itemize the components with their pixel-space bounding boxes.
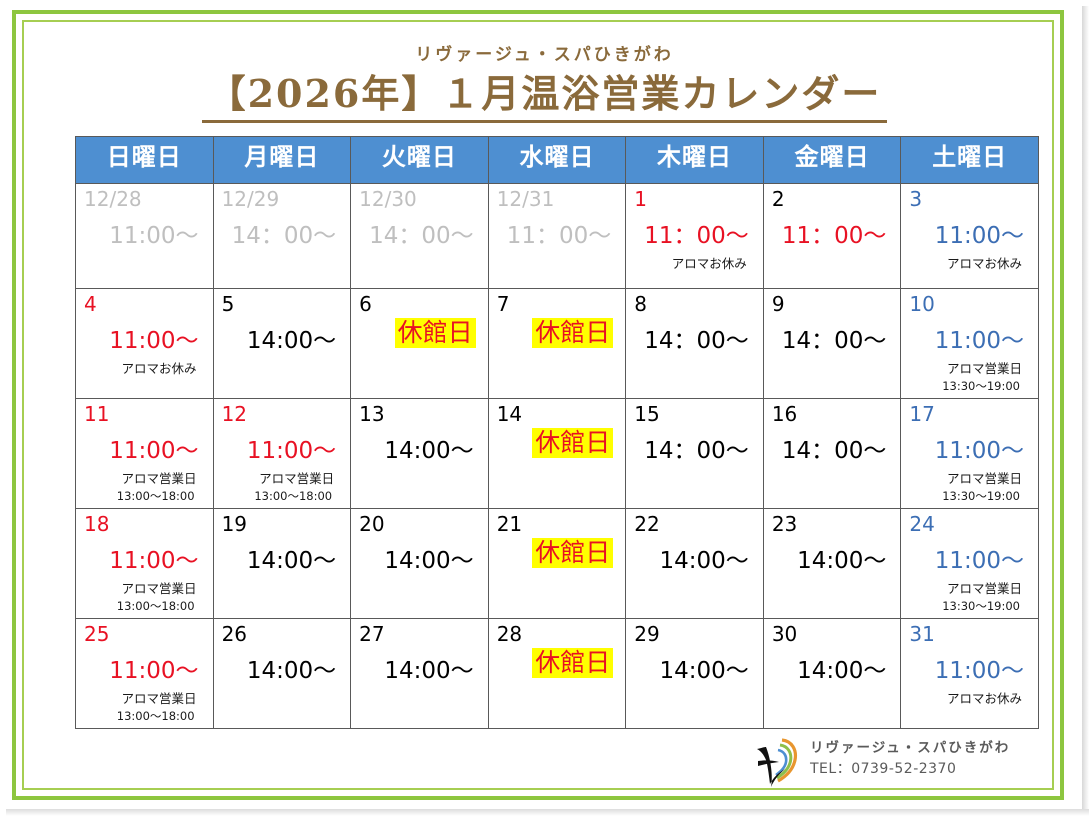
closed-day-badge: 休館日 xyxy=(532,538,613,568)
calendar-header-row: 日曜日 月曜日 火曜日 水曜日 木曜日 金曜日 土曜日 xyxy=(76,137,1039,184)
calendar-week-row: 411:00〜アロマお休み514:00〜6休館日7休館日814：00〜914：0… xyxy=(76,289,1039,399)
opening-time: 14：00〜 xyxy=(222,216,343,250)
page-shadow-right xyxy=(1082,6,1089,810)
aroma-status-note: アロマ営業日 xyxy=(909,578,1030,597)
calendar-day-cell[interactable]: 2014:00〜 xyxy=(351,509,489,619)
footer-text: リヴァージュ・スパひきがわ TEL：0739-52-2370 xyxy=(810,739,1010,779)
opening-time: 11:00〜 xyxy=(222,431,343,465)
weekday-header-thursday: 木曜日 xyxy=(626,137,764,184)
closed-badge-wrap: 休館日 xyxy=(359,318,480,348)
day-number: 10 xyxy=(909,294,1030,314)
opening-time: 11:00〜 xyxy=(84,431,205,465)
day-number: 9 xyxy=(772,294,893,314)
opening-time: 14:00〜 xyxy=(222,541,343,575)
calendar-day-cell[interactable]: 3111:00〜アロマお休み xyxy=(901,619,1039,729)
calendar-day-cell[interactable]: 2214:00〜 xyxy=(626,509,764,619)
opening-time: 11:00〜 xyxy=(84,216,205,250)
weekday-header-saturday: 土曜日 xyxy=(901,137,1039,184)
calendar-day-cell[interactable]: 14休館日 xyxy=(488,399,626,509)
day-number: 14 xyxy=(497,404,618,424)
day-number: 13 xyxy=(359,404,480,424)
calendar-day-cell[interactable]: 1614：00〜 xyxy=(763,399,901,509)
opening-time: 14:00〜 xyxy=(222,651,343,685)
facility-subtitle: リヴァージュ・スパひきがわ xyxy=(0,40,1089,65)
day-number: 20 xyxy=(359,514,480,534)
aroma-hours-note: 13:30〜19:00 xyxy=(909,378,1030,394)
weekday-header-tuesday: 火曜日 xyxy=(351,137,489,184)
calendar-page: リヴァージュ・スパひきがわ 【2026年】１月温浴営業カレンダー 日曜日 月曜日… xyxy=(0,0,1089,816)
aroma-hours-note: 13:30〜19:00 xyxy=(909,598,1030,614)
opening-time: 11:00〜 xyxy=(909,321,1030,355)
aroma-status-note: アロマ営業日 xyxy=(909,358,1030,377)
closed-badge-wrap: 休館日 xyxy=(497,538,618,568)
opening-time: 14:00〜 xyxy=(359,431,480,465)
day-number: 31 xyxy=(909,624,1030,644)
calendar-day-cell[interactable]: 2714:00〜 xyxy=(351,619,489,729)
calendar-day-cell[interactable]: 211：00〜 xyxy=(763,184,901,289)
day-number: 3 xyxy=(909,189,1030,209)
day-number: 29 xyxy=(634,624,755,644)
opening-time: 11：00〜 xyxy=(497,216,618,250)
day-number: 12/30 xyxy=(359,189,480,209)
calendar-day-cell[interactable]: 2914:00〜 xyxy=(626,619,764,729)
day-number: 30 xyxy=(772,624,893,644)
aroma-status-note: アロマお休み xyxy=(909,253,1030,272)
opening-time: 14：00〜 xyxy=(634,321,755,355)
opening-time: 14:00〜 xyxy=(772,651,893,685)
closed-badge-wrap: 休館日 xyxy=(497,318,618,348)
calendar-day-cell[interactable]: 2314:00〜 xyxy=(763,509,901,619)
calendar-day-cell[interactable]: 2511:00〜アロマ営業日13:00〜18:00 xyxy=(76,619,214,729)
opening-time: 14:00〜 xyxy=(359,651,480,685)
day-number: 22 xyxy=(634,514,755,534)
day-number: 25 xyxy=(84,624,205,644)
day-number: 2 xyxy=(772,189,893,209)
day-number: 5 xyxy=(222,294,343,314)
calendar-day-cell[interactable]: 12/2811:00〜 xyxy=(76,184,214,289)
closed-day-badge: 休館日 xyxy=(532,318,613,348)
opening-time: 11:00〜 xyxy=(84,321,205,355)
opening-time: 11:00〜 xyxy=(84,651,205,685)
opening-time: 11:00〜 xyxy=(909,431,1030,465)
opening-time: 14：00〜 xyxy=(772,321,893,355)
aroma-hours-note: 13:00〜18:00 xyxy=(222,488,343,504)
opening-time: 11：00〜 xyxy=(634,216,755,250)
calendar-day-cell[interactable]: 7休館日 xyxy=(488,289,626,399)
day-number: 4 xyxy=(84,294,205,314)
closed-day-badge: 休館日 xyxy=(532,648,613,678)
day-number: 8 xyxy=(634,294,755,314)
opening-time: 11:00〜 xyxy=(909,541,1030,575)
weekday-header-friday: 金曜日 xyxy=(763,137,901,184)
opening-time: 14:00〜 xyxy=(634,541,755,575)
calendar-day-cell[interactable]: 1811:00〜アロマ営業日13:00〜18:00 xyxy=(76,509,214,619)
calendar-day-cell[interactable]: 514:00〜 xyxy=(213,289,351,399)
calendar-day-cell[interactable]: 2614:00〜 xyxy=(213,619,351,729)
day-number: 12/28 xyxy=(84,189,205,209)
calendar-day-cell[interactable]: 1914:00〜 xyxy=(213,509,351,619)
calendar-day-cell[interactable]: 2411:00〜アロマ営業日13:30〜19:00 xyxy=(901,509,1039,619)
closed-day-badge: 休館日 xyxy=(532,428,613,458)
day-number: 6 xyxy=(359,294,480,314)
day-number: 26 xyxy=(222,624,343,644)
calendar-day-cell[interactable]: 1011:00〜アロマ営業日13:30〜19:00 xyxy=(901,289,1039,399)
calendar-day-cell[interactable]: 814：00〜 xyxy=(626,289,764,399)
calendar-day-cell[interactable]: 1514：00〜 xyxy=(626,399,764,509)
calendar-week-row: 1811:00〜アロマ営業日13:00〜18:001914:00〜2014:00… xyxy=(76,509,1039,619)
day-number: 24 xyxy=(909,514,1030,534)
opening-time: 14:00〜 xyxy=(359,541,480,575)
calendar-week-row: 2511:00〜アロマ営業日13:00〜18:002614:00〜2714:00… xyxy=(76,619,1039,729)
day-number: 27 xyxy=(359,624,480,644)
aroma-hours-note: 13:30〜19:00 xyxy=(909,488,1030,504)
closed-badge-wrap: 休館日 xyxy=(497,428,618,458)
day-number: 12/29 xyxy=(222,189,343,209)
day-number: 15 xyxy=(634,404,755,424)
aroma-status-note: アロマ営業日 xyxy=(909,468,1030,487)
opening-time: 14：00〜 xyxy=(634,431,755,465)
calendar-day-cell[interactable]: 914：00〜 xyxy=(763,289,901,399)
day-number: 19 xyxy=(222,514,343,534)
weekday-header-monday: 月曜日 xyxy=(213,137,351,184)
aroma-hours-note: 13:00〜18:00 xyxy=(84,488,205,504)
day-number: 12 xyxy=(222,404,343,424)
calendar-day-cell[interactable]: 1314:00〜 xyxy=(351,399,489,509)
aroma-status-note: アロマ営業日 xyxy=(222,468,343,487)
opening-time: 11:00〜 xyxy=(84,541,205,575)
aroma-status-note: アロマお休み xyxy=(84,358,205,377)
opening-time: 14：00〜 xyxy=(359,216,480,250)
opening-time: 14:00〜 xyxy=(772,541,893,575)
page-title: 【2026年】１月温浴営業カレンダー xyxy=(202,63,888,123)
day-number: 18 xyxy=(84,514,205,534)
page-shadow-bottom xyxy=(6,809,1089,816)
calendar-day-cell[interactable]: 12/3014：00〜 xyxy=(351,184,489,289)
opening-time: 14：00〜 xyxy=(772,431,893,465)
calendar-week-row: 1111:00〜アロマ営業日13:00〜18:001211:00〜アロマ営業日1… xyxy=(76,399,1039,509)
calendar-day-cell[interactable]: 21休館日 xyxy=(488,509,626,619)
day-number: 28 xyxy=(497,624,618,644)
day-number: 12/31 xyxy=(497,189,618,209)
aroma-status-note: アロマお休み xyxy=(634,253,755,272)
day-number: 21 xyxy=(497,514,618,534)
calendar-day-cell[interactable]: 111：00〜アロマお休み xyxy=(626,184,764,289)
calendar-day-cell[interactable]: 1111:00〜アロマ営業日13:00〜18:00 xyxy=(76,399,214,509)
opening-time: 14:00〜 xyxy=(222,321,343,355)
page-title-wrap: 【2026年】１月温浴営業カレンダー xyxy=(0,63,1089,123)
closed-day-badge: 休館日 xyxy=(395,318,476,348)
calendar-day-cell[interactable]: 1211:00〜アロマ営業日13:00〜18:00 xyxy=(213,399,351,509)
day-number: 11 xyxy=(84,404,205,424)
calendar-day-cell[interactable]: 311:00〜アロマお休み xyxy=(901,184,1039,289)
day-number: 17 xyxy=(909,404,1030,424)
aroma-hours-note: 13:00〜18:00 xyxy=(84,598,205,614)
opening-time: 11:00〜 xyxy=(909,651,1030,685)
footer-telephone: TEL：0739-52-2370 xyxy=(810,759,1010,779)
aroma-status-note: アロマ営業日 xyxy=(84,468,205,487)
calendar-day-cell[interactable]: 12/2914：00〜 xyxy=(213,184,351,289)
calendar-week-row: 12/2811:00〜12/2914：00〜12/3014：00〜12/3111… xyxy=(76,184,1039,289)
rivage-logo-icon xyxy=(752,734,804,789)
opening-time: 14:00〜 xyxy=(634,651,755,685)
aroma-hours-note: 13:00〜18:00 xyxy=(84,708,205,724)
aroma-status-note: アロマ営業日 xyxy=(84,688,205,707)
calendar-day-cell[interactable]: 28休館日 xyxy=(488,619,626,729)
weekday-header-sunday: 日曜日 xyxy=(76,137,214,184)
calendar-body: 12/2811:00〜12/2914：00〜12/3014：00〜12/3111… xyxy=(76,184,1039,729)
calendar-day-cell[interactable]: 411:00〜アロマお休み xyxy=(76,289,214,399)
day-number: 7 xyxy=(497,294,618,314)
footer: リヴァージュ・スパひきがわ TEL：0739-52-2370 xyxy=(752,734,1042,796)
weekday-header-wednesday: 水曜日 xyxy=(488,137,626,184)
day-number: 1 xyxy=(634,189,755,209)
opening-time: 11:00〜 xyxy=(909,216,1030,250)
calendar-day-cell[interactable]: 12/3111：00〜 xyxy=(488,184,626,289)
day-number: 23 xyxy=(772,514,893,534)
calendar-day-cell[interactable]: 1711:00〜アロマ営業日13:30〜19:00 xyxy=(901,399,1039,509)
opening-time: 11：00〜 xyxy=(772,216,893,250)
aroma-status-note: アロマお休み xyxy=(909,688,1030,707)
footer-facility-name: リヴァージュ・スパひきがわ xyxy=(810,739,1010,759)
calendar-day-cell[interactable]: 3014:00〜 xyxy=(763,619,901,729)
aroma-status-note: アロマ営業日 xyxy=(84,578,205,597)
calendar-day-cell[interactable]: 6休館日 xyxy=(351,289,489,399)
monthly-calendar-table: 日曜日 月曜日 火曜日 水曜日 木曜日 金曜日 土曜日 12/2811:00〜1… xyxy=(75,136,1039,729)
day-number: 16 xyxy=(772,404,893,424)
closed-badge-wrap: 休館日 xyxy=(497,648,618,678)
